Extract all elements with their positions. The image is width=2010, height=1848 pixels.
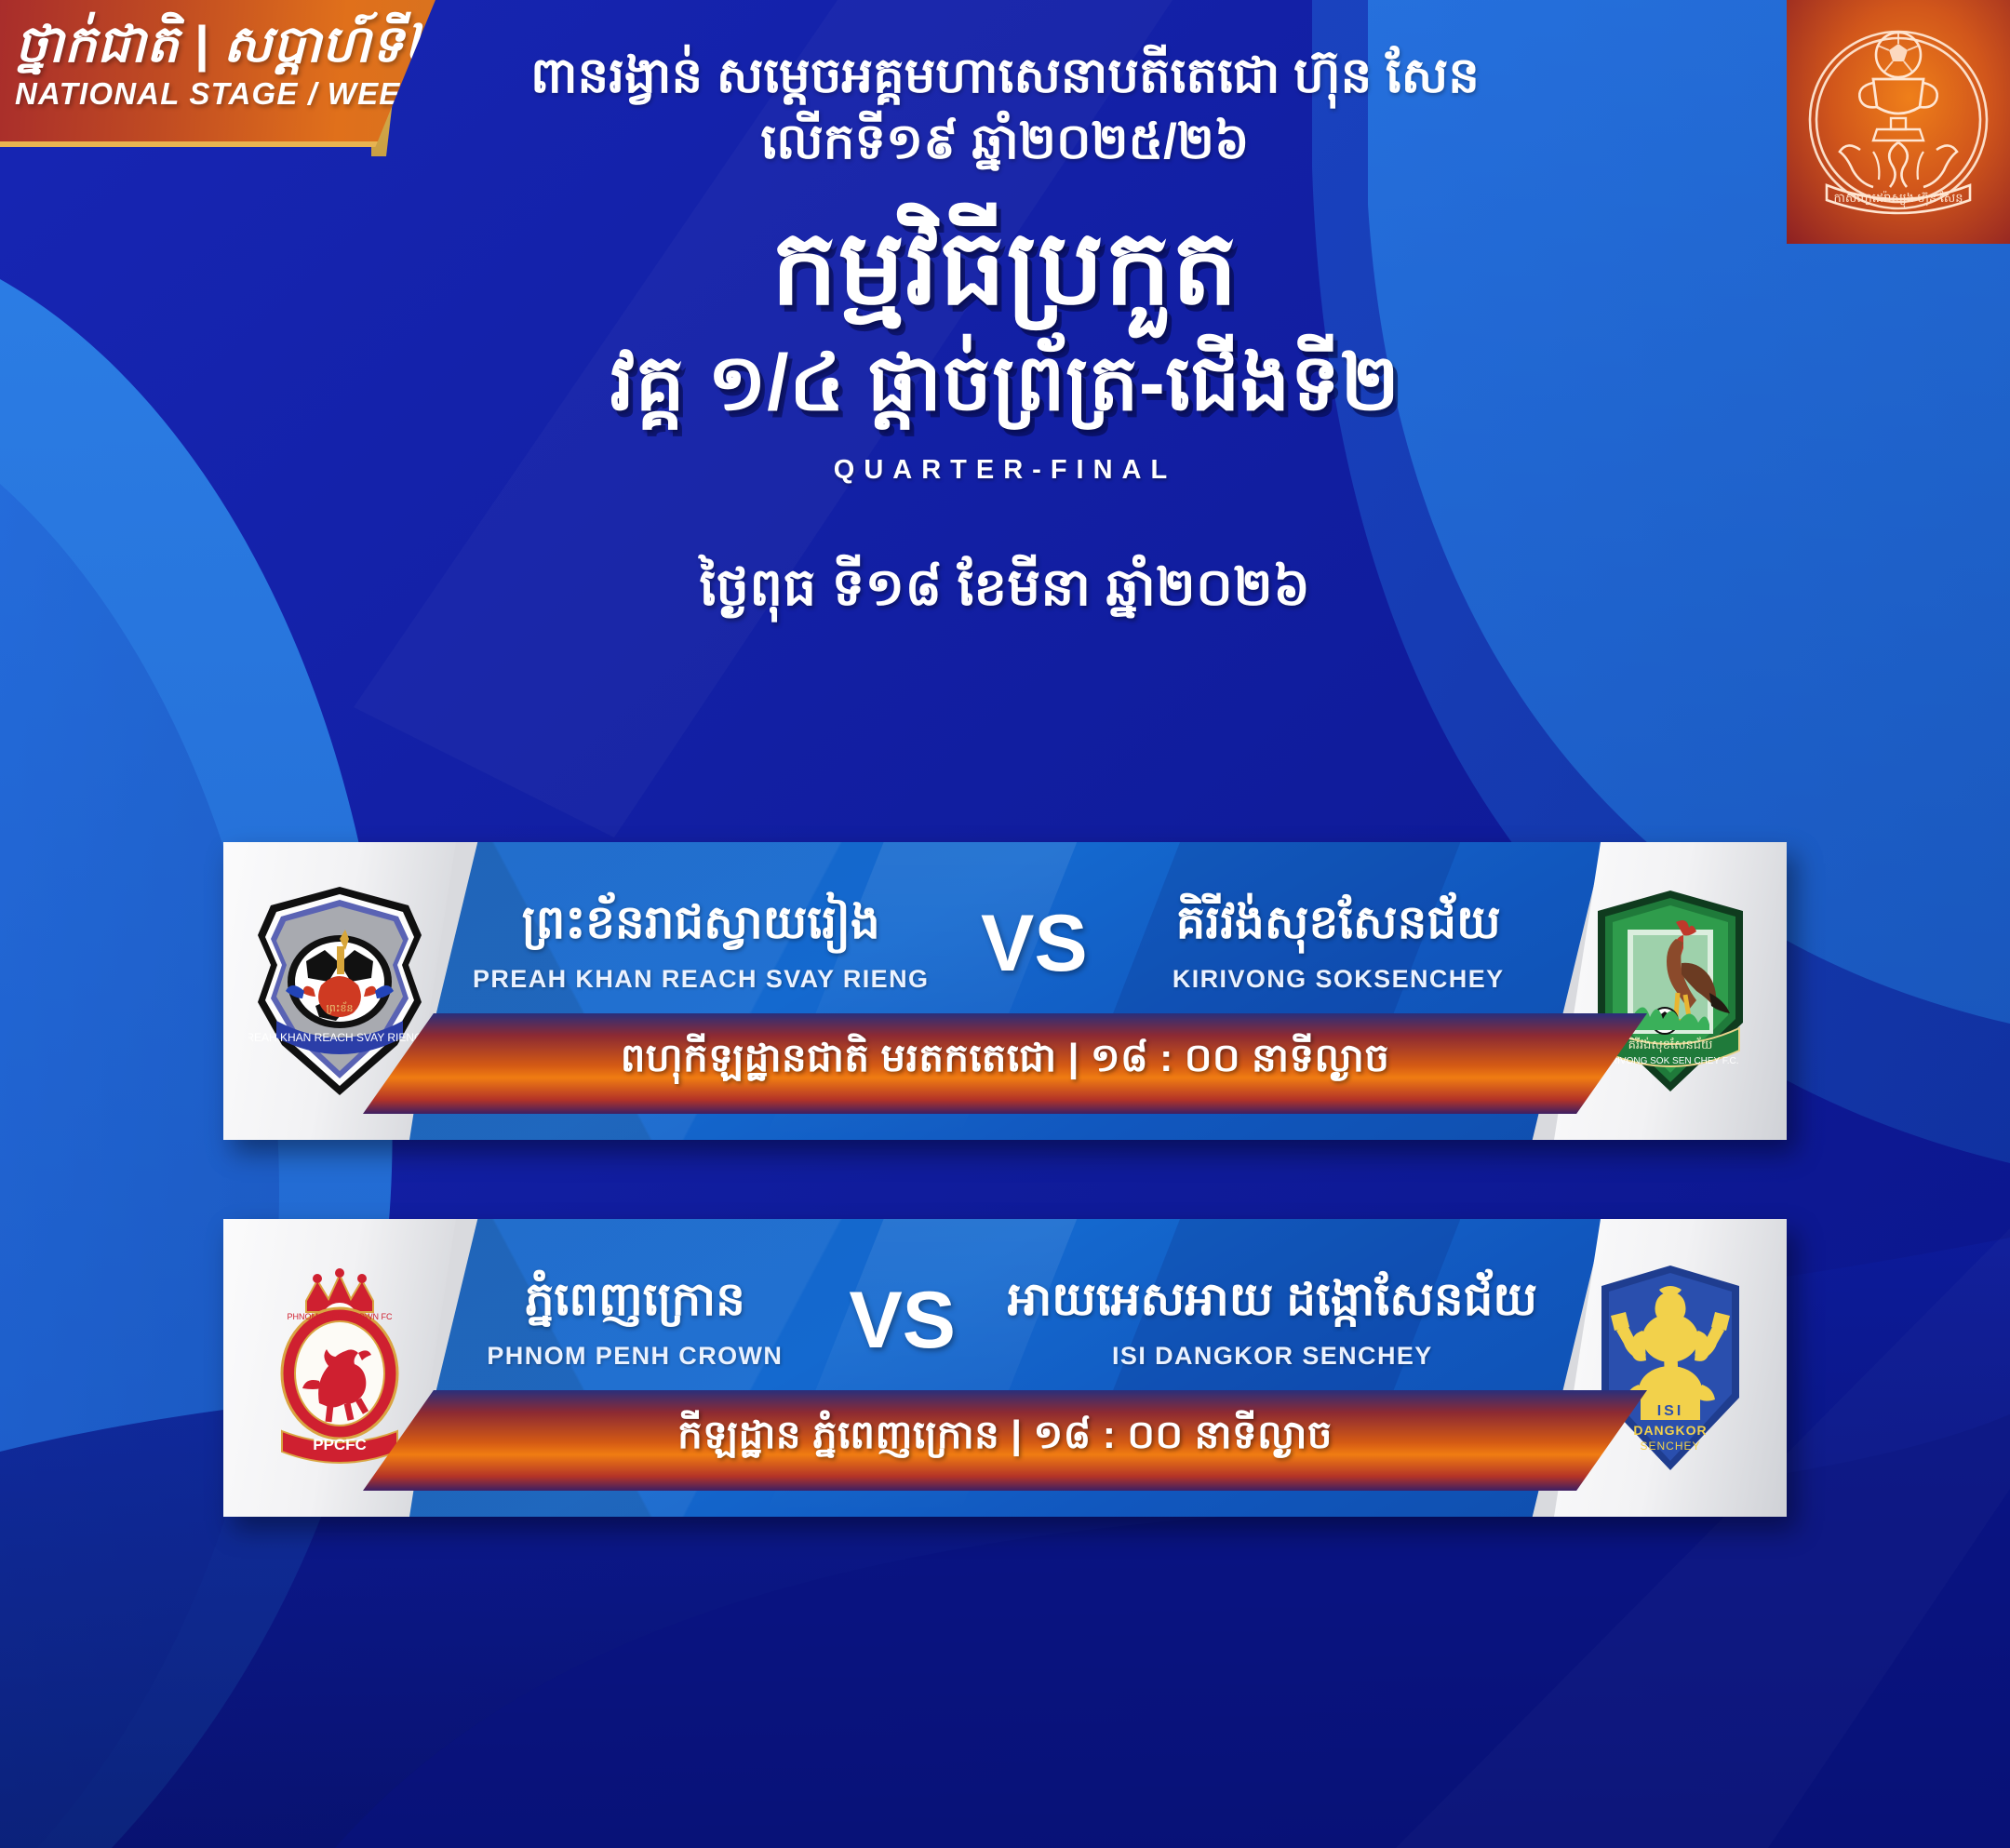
vs-label: VS [945,904,1122,984]
venue-and-time: ពហុកីឡដ្ឋានជាតិ មរតកតេជោ | ១៨ : ០០ នាទីល… [621,1033,1390,1091]
svg-text:ISI: ISI [1657,1403,1684,1419]
week-badge: ថ្នាក់ជាតិ | សប្តាហ៍ទី២៧ NATIONAL STAGE … [0,0,439,147]
match-card[interactable]: PHNOM PENH CROWN FC PPCFC ភ្នំពេញក្រោន P… [223,1219,1787,1517]
venue-and-time: កីឡដ្ឋាន ភ្នំពេញក្រោន | ១៨ : ០០ នាទីល្ងា… [677,1410,1333,1467]
tournament-emblem: កាសហ្វេដេរ៉ាស្យុង ហ៊ុន សែន [1787,0,2010,244]
week-badge-english-label: NATIONAL STAGE / WEEK 27 [15,77,370,111]
away-crest-caption: KIRIVONG SOK SEN CHEY F.C. [1601,1056,1738,1066]
page-title: កម្មវិធីប្រកួត [0,209,2010,326]
venue-bar: កីឡដ្ឋាន ភ្នំពេញក្រោន | ១៨ : ០០ នាទីល្ងា… [363,1390,1647,1491]
home-team-name-khmer: ព្រះខ័នរាជស្វាយរៀង [473,894,929,950]
home-team[interactable]: ភ្នំពេញក្រោន PHNOM PENH CROWN [456,1271,814,1371]
match-card[interactable]: ព្រះខ័ន PREAH KHAN REACH SVAY RIENG FC ព… [223,842,1787,1140]
venue-bar: ពហុកីឡដ្ឋានជាតិ មរតកតេជោ | ១៨ : ០០ នាទីល… [363,1013,1647,1114]
trophy-emblem-icon: កាសហ្វេដេរ៉ាស្យុង ហ៊ុន សែន [1795,10,2002,234]
round-title-english: QUARTER-FINAL [0,455,2010,486]
away-team-name-english: KIRIVONG SOKSENCHEY [1139,965,1537,994]
svg-text:DANGKOR: DANGKOR [1633,1423,1707,1438]
away-team-name-khmer: អាយអេសអាយ ដង្កោសែនជ័យ [1008,1271,1537,1327]
home-team-name-english: PHNOM PENH CROWN [473,1342,797,1371]
home-team-name-khmer: ភ្នំពេញក្រោន [473,1271,797,1327]
match-list: ព្រះខ័ន PREAH KHAN REACH SVAY RIENG FC ព… [0,842,2010,1596]
away-team[interactable]: គិរីវង់សុខសែនជ័យ KIRIVONG SOKSENCHEY [1122,894,1554,994]
vs-label: VS [814,1280,991,1360]
emblem-caption: កាសហ្វេដេរ៉ាស្យុង ហ៊ុន សែន [1833,190,1963,208]
round-title: វគ្គ ១/៤ ផ្តាច់ព្រ័ត្រ-ជើងទី២ [0,338,2010,428]
svg-text:ព្រះខ័ន: ព្រះខ័ន [326,1001,353,1014]
home-crest-caption: PREAH KHAN REACH SVAY RIENG FC [248,1031,431,1044]
svg-text:SENCHEY: SENCHEY [1640,1440,1700,1453]
home-team-name-english: PREAH KHAN REACH SVAY RIENG [473,965,929,994]
match-date: ថ្ងៃពុធ ទី១៨ ខែមីនា ឆ្នាំ២០២៦ [0,555,2010,631]
svg-text:គិរីវង់សុខសែនជ័យ: គិរីវង់សុខសែនជ័យ [1628,1037,1713,1053]
svg-text:PHNOM PENH CROWN FC: PHNOM PENH CROWN FC [288,1312,393,1321]
away-team[interactable]: អាយអេសអាយ ដង្កោសែនជ័យ ISI DANGKOR SENCHE… [991,1271,1554,1371]
away-team-name-english: ISI DANGKOR SENCHEY [1008,1342,1537,1371]
week-badge-khmer-label: ថ្នាក់ជាតិ | សប្តាហ៍ទី២៧ [15,18,370,72]
away-team-name-khmer: គិរីវង់សុខសែនជ័យ [1139,894,1537,950]
home-team[interactable]: ព្រះខ័នរាជស្វាយរៀង PREAH KHAN REACH SVAY… [456,894,945,994]
home-crest-caption: PPCFC [313,1436,367,1453]
